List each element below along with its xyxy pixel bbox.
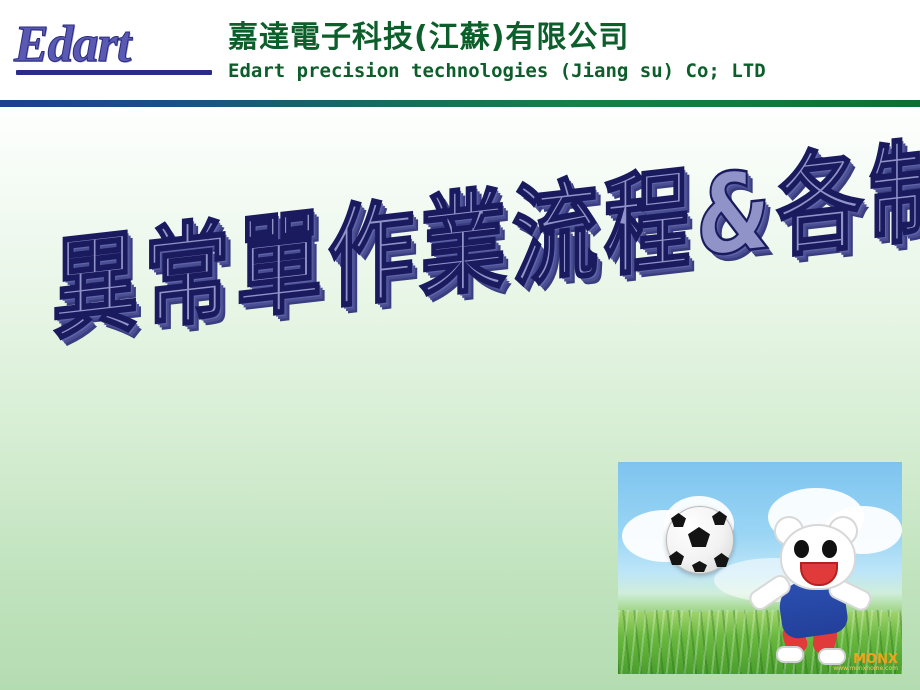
mascot-eye-right (822, 540, 837, 558)
cat-mascot (750, 524, 870, 662)
watermark-url: www.monxhome.com (833, 666, 898, 672)
logo-underline-bar (16, 70, 212, 75)
mascot-illustration: MONX www.monxhome.com (618, 462, 902, 674)
logo-wordmark: Edart (14, 14, 214, 76)
ball-patch (692, 561, 707, 572)
slide-header: Edart 嘉達電子科技(江蘇)有限公司 Edart precision tec… (0, 0, 920, 100)
mascot-foot-left (776, 646, 804, 663)
ball-patch (714, 553, 729, 567)
slide-title-block: 異常單作業流程&各制程段停線機制 (52, 196, 888, 396)
edart-logo: Edart (14, 14, 214, 76)
company-name-chinese: 嘉達電子科技(江蘇)有限公司 (228, 20, 629, 56)
image-watermark: MONX www.monxhome.com (833, 653, 898, 672)
company-name-english: Edart precision technologies (Jiang su) … (228, 59, 766, 83)
ball-patch (669, 551, 684, 565)
header-divider-rule (0, 100, 920, 107)
page-title: 異常單作業流程&各制程段停線機制 (52, 101, 888, 388)
soccer-ball-icon (666, 506, 734, 574)
slide-canvas: Edart 嘉達電子科技(江蘇)有限公司 Edart precision tec… (0, 0, 920, 690)
mascot-eye-left (794, 540, 809, 558)
